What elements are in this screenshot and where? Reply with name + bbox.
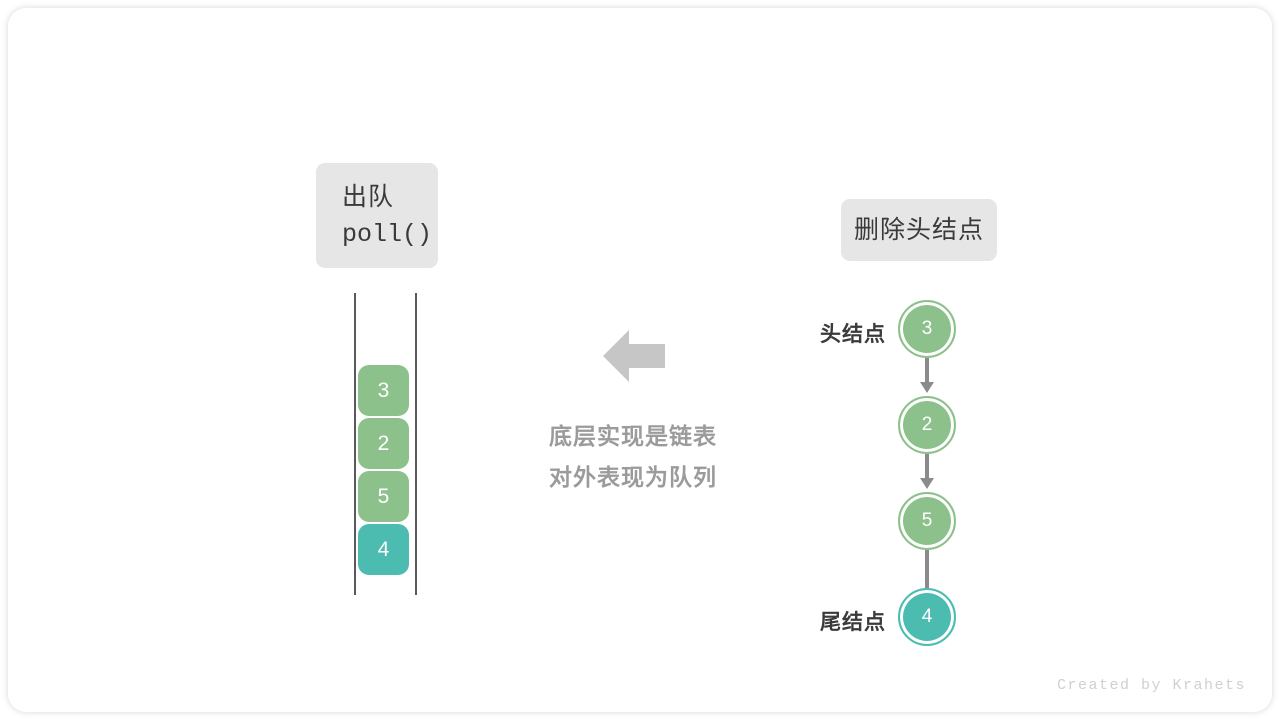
chip-poll-code-label: poll() (342, 216, 432, 254)
list-node: 5 (898, 492, 956, 550)
list-node: 2 (898, 396, 956, 454)
tail-node-label: 尾结点 (786, 606, 886, 636)
queue-cell: 5 (358, 471, 409, 522)
operation-chip-remove-head: 删除头结点 (841, 199, 997, 261)
operation-chip-poll: 出队 poll() (316, 163, 438, 268)
list-node-head: 3 (898, 300, 956, 358)
queue-rail-left (354, 293, 356, 595)
list-node-tail: 4 (898, 588, 956, 646)
list-connector-arrowhead (920, 478, 934, 489)
head-node-label: 头结点 (786, 318, 886, 348)
list-connector (925, 454, 929, 481)
list-connector-arrowhead (920, 382, 934, 393)
left-arrow-icon (603, 326, 665, 386)
diagram-canvas: 出队 poll() 删除头结点 3 2 5 4 底层实现是链表 对外表现为队列 … (8, 8, 1272, 712)
chip-poll-cn-label: 出队 (342, 178, 394, 216)
caption-line-2: 对外表现为队列 (478, 457, 788, 498)
caption-text: 底层实现是链表 对外表现为队列 (478, 416, 788, 498)
queue-cell: 3 (358, 365, 409, 416)
list-connector (925, 358, 929, 385)
queue-rail-right (415, 293, 417, 595)
linked-list-container: 头结点 尾结点 3 2 5 4 (778, 288, 1008, 658)
chip-remove-head-label: 删除头结点 (854, 211, 984, 249)
caption-line-1: 底层实现是链表 (478, 416, 788, 457)
queue-cell-highlighted: 4 (358, 524, 409, 575)
credit-text: Created by Krahets (1057, 677, 1246, 694)
queue-container: 3 2 5 4 (338, 283, 438, 608)
queue-cell: 2 (358, 418, 409, 469)
